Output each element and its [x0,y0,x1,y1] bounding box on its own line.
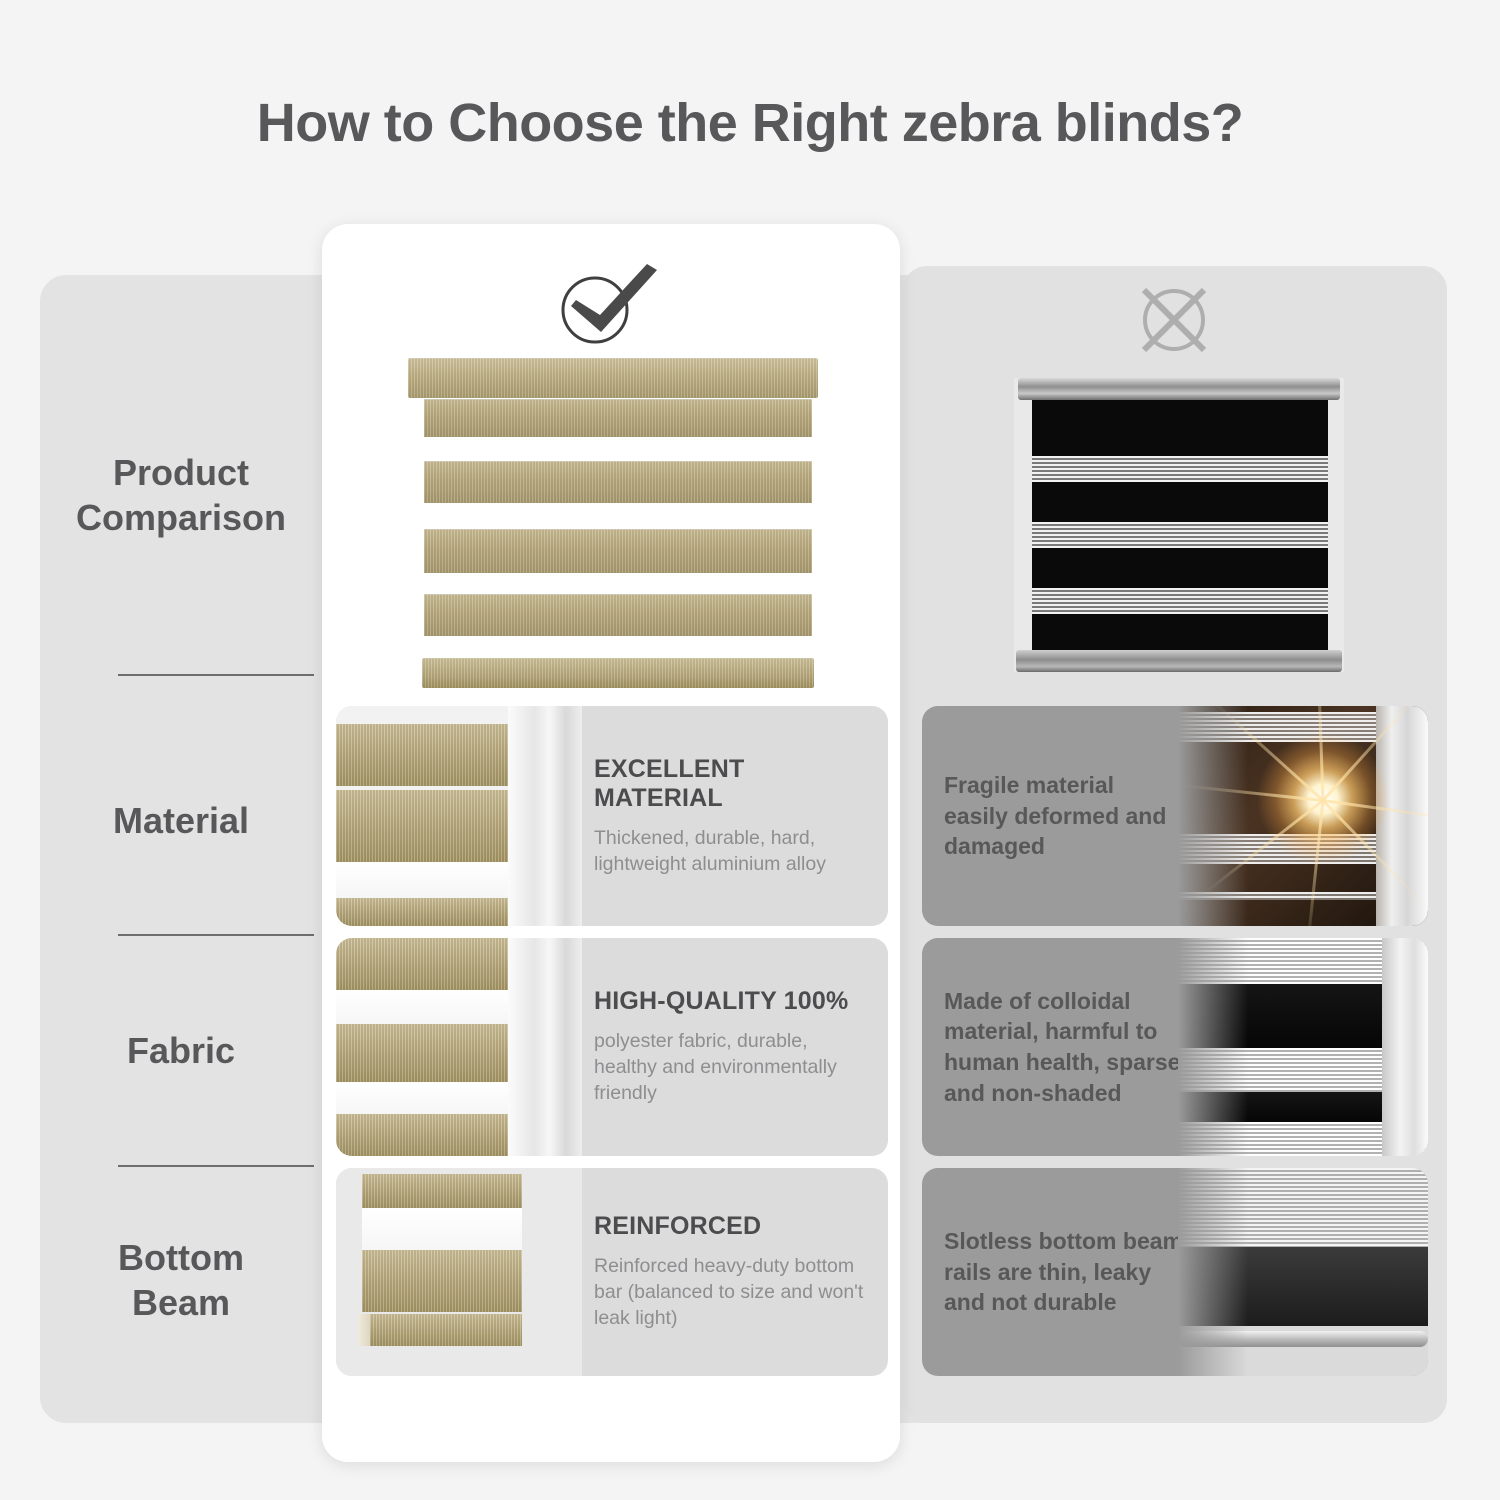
row-label-line2: Comparison [40,495,322,540]
row-label-line1: Bottom [40,1235,322,1280]
light-leak-glow [1258,734,1388,864]
blind-sheer-band [336,1082,522,1114]
row-label-line2: Beam [40,1280,322,1325]
blind-slat [362,1174,522,1208]
blind-slat [336,790,522,862]
blind-sheer-band [336,862,522,898]
blind-headrail [1018,378,1340,400]
feature-description: Thickened, durable, hard, lightweight al… [594,826,874,878]
check-circle-icon [545,262,665,352]
feature-photo [336,706,582,926]
row-label-column: Product Comparison Material Fabric Botto… [40,275,322,1423]
feature-title: EXCELLENT MATERIAL [594,755,874,813]
blind-slat [336,724,522,786]
photo-fade-overlay [1178,938,1248,1156]
blind-slat [362,1250,522,1312]
blind-sheer-band [1032,456,1328,482]
feature-title: REINFORCED [594,1212,874,1241]
feature-description: Reinforced heavy-duty bottom bar (balanc… [594,1254,874,1332]
row-label-line1: Material [40,798,322,843]
feature-text: REINFORCED Reinforced heavy-duty bottom … [594,1168,888,1376]
blind-slat [424,529,812,573]
row-divider [118,934,314,936]
feature-card-good-material: EXCELLENT MATERIAL Thickened, durable, h… [336,706,888,926]
blind-sheer-band [1032,588,1328,614]
blind-sheer-band [362,1208,522,1250]
photo-fade-overlay [1178,1168,1248,1376]
feature-text: Slotless bottom beam rails are thin, lea… [944,1168,1184,1376]
blind-slat [424,399,812,437]
row-label-material: Material [40,798,322,843]
row-label-line1: Product [40,450,322,495]
feature-card-bad-material: Fragile material easily deformed and dam… [922,706,1428,926]
feature-description: polyester fabric, durable, healthy and e… [594,1029,874,1107]
blind-sheer-band [1032,522,1328,548]
feature-text: EXCELLENT MATERIAL Thickened, durable, h… [594,706,888,926]
feature-photo [1178,706,1428,926]
infographic-root: How to Choose the Right zebra blinds? Pr… [0,0,1500,1500]
window-frame [1382,938,1428,1156]
blind-slat [424,594,812,636]
blind-bottom-rail [1016,650,1342,672]
blind-headrail [408,358,818,398]
feature-title: HIGH-QUALITY 100% [594,987,874,1016]
blind-sheer-band [336,990,522,1024]
feature-photo [1178,938,1428,1156]
hero-image-bad-blind [1014,378,1344,672]
row-label-line1: Fabric [40,1028,322,1073]
window-frame [508,706,582,926]
feature-card-bad-bottom-beam: Slotless bottom beam rails are thin, lea… [922,1168,1428,1376]
feature-photo [336,938,582,1156]
cross-circle-icon [1122,280,1226,356]
row-label-bottom-beam: Bottom Beam [40,1235,322,1326]
page-title: How to Choose the Right zebra blinds? [0,92,1500,154]
feature-text: Fragile material easily deformed and dam… [944,706,1184,926]
photo-fade-overlay [1178,706,1248,926]
feature-card-bad-fabric: Made of colloidal material, harmful to h… [922,938,1428,1156]
blind-end-cap [358,1314,370,1346]
feature-card-good-bottom-beam: REINFORCED Reinforced heavy-duty bottom … [336,1168,888,1376]
blind-bottom-bar [358,1314,522,1346]
feature-text: HIGH-QUALITY 100% polyester fabric, dura… [594,938,888,1156]
blind-slat [424,461,812,503]
window-frame [508,938,582,1156]
blind-slat [336,938,522,990]
feature-card-good-fabric: HIGH-QUALITY 100% polyester fabric, dura… [336,938,888,1156]
hero-image-good-blind [408,358,818,698]
blind-slat [336,1114,522,1156]
blind-slat [336,1024,522,1082]
row-label-product-comparison: Product Comparison [40,450,322,541]
row-label-fabric: Fabric [40,1028,322,1073]
feature-photo [336,1168,582,1376]
feature-photo [1178,1168,1428,1376]
blind-fabric-body [1032,400,1328,650]
feature-text: Made of colloidal material, harmful to h… [944,938,1184,1156]
blind-slat [336,898,522,926]
row-divider [118,674,314,676]
row-divider [118,1165,314,1167]
blind-bottom-bar [422,658,814,688]
